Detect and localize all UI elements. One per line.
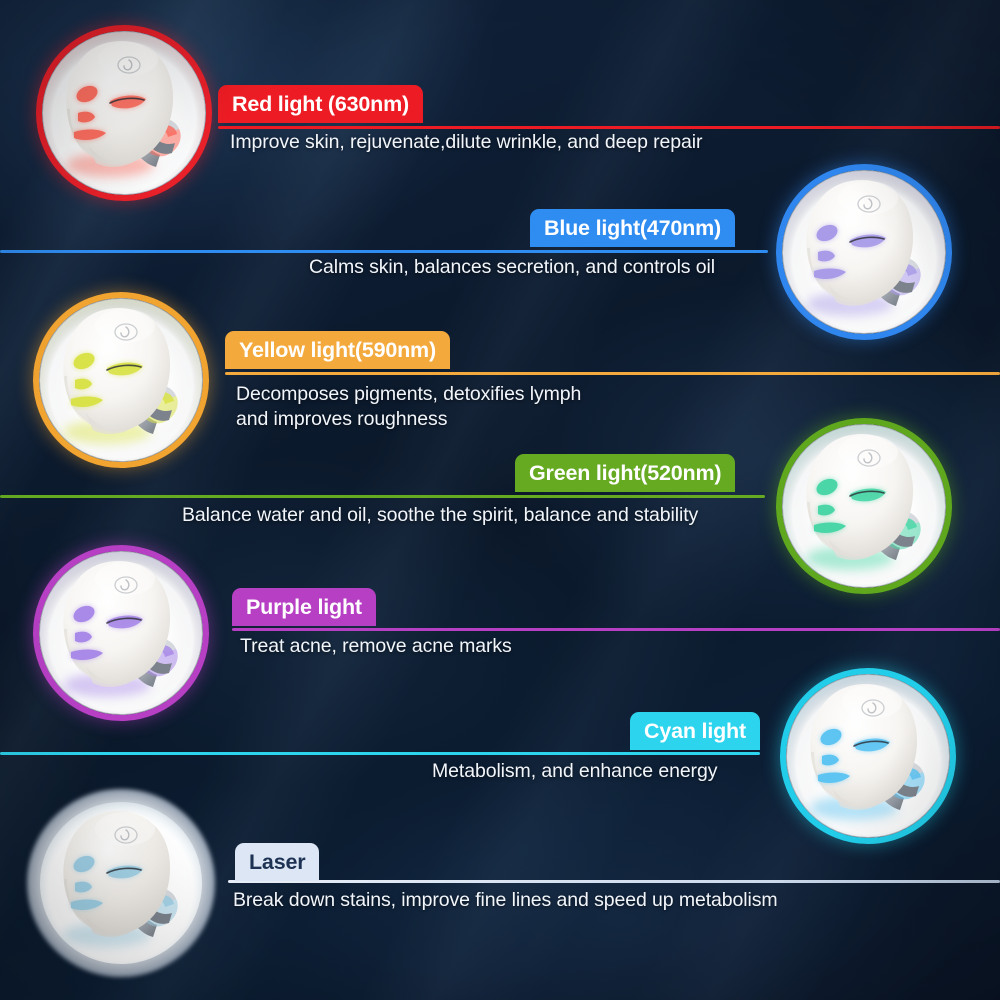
badge-blue-light: Blue light(470nm) (530, 209, 735, 247)
led-face-mask-icon (776, 164, 952, 340)
badge-laser: Laser (235, 843, 319, 881)
divider-laser (228, 880, 1000, 883)
led-face-mask-icon (780, 668, 956, 844)
mask-photo-cyan (780, 668, 956, 844)
mask-photo-red (36, 25, 212, 201)
badge-yellow-light: Yellow light(590nm) (225, 331, 450, 369)
mask-photo-purple (33, 545, 209, 721)
description-blue-light: Calms skin, balances secretion, and cont… (309, 255, 715, 280)
description-red-light: Improve skin, rejuvenate,dilute wrinkle,… (230, 130, 702, 155)
badge-green-light: Green light(520nm) (515, 454, 735, 492)
infographic-poster: Red light (630nm) Blue light(470nm) Yell… (0, 0, 1000, 1000)
divider-red (218, 126, 1000, 129)
divider-blue (0, 250, 768, 253)
badge-purple-light: Purple light (232, 588, 376, 626)
divider-purple (232, 628, 1000, 631)
led-face-mask-icon (33, 545, 209, 721)
mask-photo-green (776, 418, 952, 594)
led-face-mask-icon (776, 418, 952, 594)
divider-cyan (0, 752, 760, 755)
divider-green (0, 495, 765, 498)
description-laser: Break down stains, improve fine lines an… (233, 888, 778, 913)
description-cyan-light: Metabolism, and enhance energy (432, 759, 717, 784)
badge-red-light: Red light (630nm) (218, 85, 423, 123)
led-face-mask-icon (36, 25, 212, 201)
mask-photo-yellow (33, 292, 209, 468)
description-purple-light: Treat acne, remove acne marks (240, 634, 512, 659)
mask-photo-laser (33, 795, 209, 971)
led-face-mask-icon (33, 795, 209, 971)
description-green-light: Balance water and oil, soothe the spirit… (182, 503, 698, 528)
badge-cyan-light: Cyan light (630, 712, 760, 750)
description-yellow-light: Decomposes pigments, detoxifies lymph an… (236, 382, 581, 432)
led-face-mask-icon (33, 292, 209, 468)
mask-photo-blue (776, 164, 952, 340)
divider-yellow (225, 372, 1000, 375)
